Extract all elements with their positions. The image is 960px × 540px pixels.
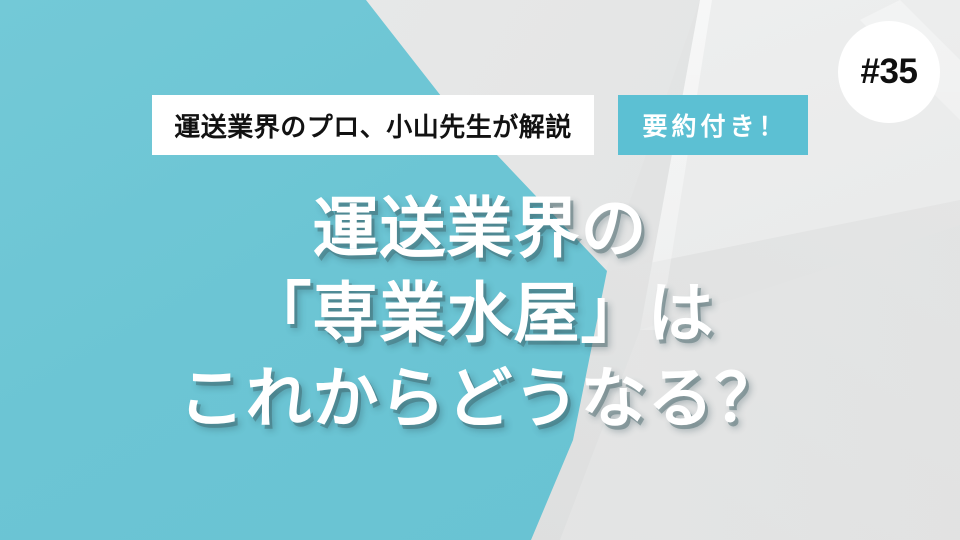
label-gap [594,95,618,155]
main-title: 運送業界の 「専業水屋」は これからどうなる？ [0,186,960,441]
header-label-row: 運送業界のプロ、小山先生が解説 要約付き！ [152,95,808,155]
title-line-1: 運送業界の [0,186,960,271]
thumbnail-canvas: 運送業界のプロ、小山先生が解説 要約付き！ #35 運送業界の 「専業水屋」は … [0,0,960,540]
presenter-label-box: 運送業界のプロ、小山先生が解説 [152,95,594,155]
episode-number-badge: #35 [838,21,940,123]
title-line-3: これからどうなる？ [0,356,960,441]
presenter-label-text: 運送業界のプロ、小山先生が解説 [174,107,572,144]
title-line-2: 「専業水屋」は [0,271,960,356]
episode-number-text: #35 [861,52,918,92]
summary-badge-text: 要約付き！ [638,107,787,143]
summary-badge-box: 要約付き！ [618,95,808,155]
